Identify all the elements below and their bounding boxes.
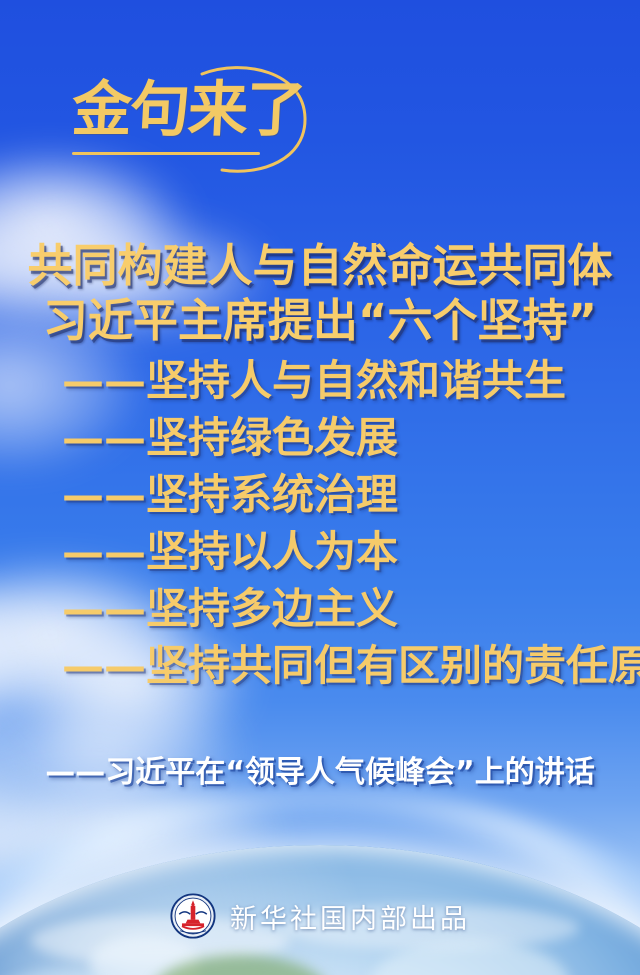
earth-atmosphere-glow	[0, 790, 640, 975]
list-item: ——坚持人与自然和谐共生	[62, 352, 622, 409]
headline-line-1: 共同构建人与自然命运共同体	[0, 238, 640, 293]
xinhua-emblem-icon	[170, 893, 216, 939]
headline-line-2: 习近平主席提出“六个坚持”	[0, 293, 640, 348]
attribution-text: ——习近平在“领导人气候峰会”上的讲话	[0, 752, 640, 794]
cloud-icon	[0, 575, 60, 755]
landmass	[150, 955, 330, 975]
cloud-patch	[370, 940, 570, 975]
list-item: ——坚持多边主义	[62, 580, 622, 637]
cloud-patch	[0, 970, 140, 975]
brand-logo-text: 金句来了	[70, 80, 305, 140]
list-item: ——坚持绿色发展	[62, 409, 622, 466]
list-item: ——坚持共同但有区别的责任原则	[62, 637, 622, 694]
brand-logo: 金句来了	[58, 62, 308, 177]
cloud-patch	[90, 935, 200, 975]
list-item: ——坚持系统治理	[62, 466, 622, 523]
points-list: ——坚持人与自然和谐共生 ——坚持绿色发展 ——坚持系统治理 ——坚持以人为本 …	[62, 352, 622, 694]
footer-text: 新华社国内部出品	[230, 897, 470, 936]
list-item: ——坚持以人为本	[62, 523, 622, 580]
underline-stroke-icon	[72, 152, 260, 155]
footer: 新华社国内部出品	[0, 893, 640, 939]
poster-canvas: 金句来了 共同构建人与自然命运共同体 习近平主席提出“六个坚持” ——坚持人与自…	[0, 0, 640, 975]
headline: 共同构建人与自然命运共同体 习近平主席提出“六个坚持”	[0, 238, 640, 348]
